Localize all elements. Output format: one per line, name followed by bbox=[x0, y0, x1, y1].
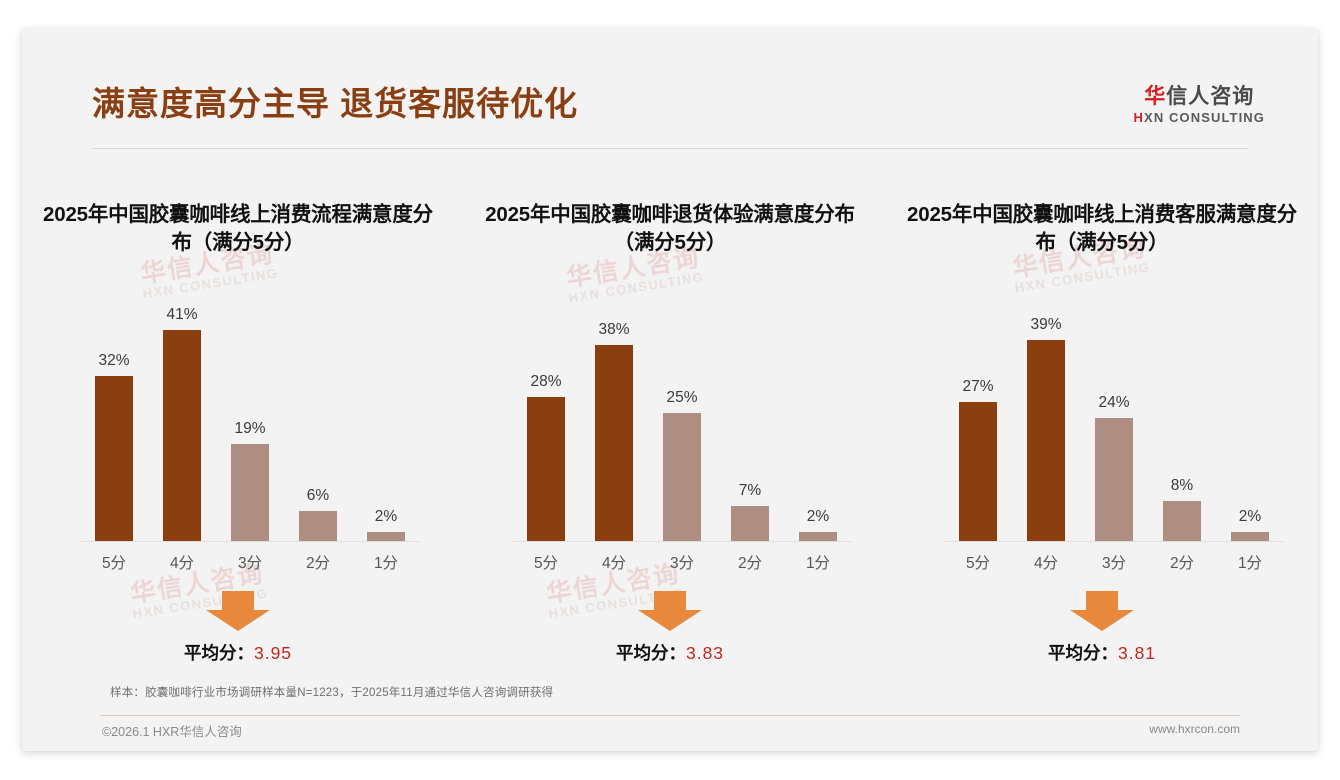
bar bbox=[163, 330, 201, 542]
x-axis-tick-label: 5分 bbox=[944, 551, 1012, 573]
watermark-english: HXN CONSULTING bbox=[142, 266, 279, 301]
bar-item: 25% bbox=[648, 309, 716, 542]
bar-value-label: 39% bbox=[1012, 316, 1080, 334]
slide-footer: ©2026.1 HXR华信人咨询 www.hxrcon.com bbox=[22, 721, 1318, 751]
x-axis-labels-3: 5分4分3分2分1分 bbox=[944, 551, 1284, 573]
plot-area-1: 32%41%19%6%2% bbox=[80, 309, 420, 542]
footer-divider bbox=[100, 715, 1240, 716]
chart-title-2: 2025年中国胶囊咖啡退货体验满意度分布（满分5分） bbox=[472, 201, 868, 258]
average-score-2: 平均分：3.83 bbox=[454, 640, 886, 665]
logo-en-rest: XN CONSULTING bbox=[1144, 110, 1265, 125]
bar-item: 8% bbox=[1148, 309, 1216, 542]
copyright-text: ©2026.1 HXR华信人咨询 bbox=[102, 721, 242, 740]
slide-background: 满意度高分主导 退货客服待优化 华信人咨询 HXN CONSULTING 华信人… bbox=[0, 0, 1340, 780]
bar-value-label: 32% bbox=[80, 352, 148, 370]
x-axis-tick-label: 1分 bbox=[1216, 551, 1284, 573]
x-axis-tick-label: 2分 bbox=[716, 551, 784, 573]
slide-header: 满意度高分主导 退货客服待优化 华信人咨询 HXN CONSULTING bbox=[22, 29, 1318, 125]
bar-value-label: 28% bbox=[512, 373, 580, 391]
chart-title-1: 2025年中国胶囊咖啡线上消费流程满意度分布（满分5分） bbox=[40, 201, 436, 258]
bar-item: 7% bbox=[716, 309, 784, 542]
bar bbox=[1095, 418, 1133, 542]
header-divider bbox=[92, 148, 1248, 149]
x-axis-line bbox=[944, 541, 1284, 542]
x-axis-tick-label: 4分 bbox=[1012, 551, 1080, 573]
x-axis-tick-label: 5分 bbox=[512, 551, 580, 573]
average-label: 平均分： bbox=[616, 643, 686, 663]
website-url: www.hxrcon.com bbox=[1149, 722, 1240, 736]
down-arrow-icon bbox=[206, 591, 270, 631]
logo-chinese-rest: 信人咨询 bbox=[1166, 85, 1254, 108]
plot-area-3: 27%39%24%8%2% bbox=[944, 309, 1284, 542]
bar-item: 19% bbox=[216, 309, 284, 542]
bar bbox=[959, 402, 997, 542]
watermark-english: HXN CONSULTING bbox=[568, 270, 705, 305]
average-value: 3.81 bbox=[1118, 643, 1156, 663]
bar-item: 2% bbox=[784, 309, 852, 542]
average-value: 3.83 bbox=[686, 643, 724, 663]
down-arrow-icon bbox=[1070, 591, 1134, 631]
logo-english-text: HXN CONSULTING bbox=[1134, 111, 1265, 124]
arrow-head bbox=[206, 610, 270, 631]
x-axis-labels-1: 5分4分3分2分1分 bbox=[80, 551, 420, 573]
bar-group-3: 27%39%24%8%2% bbox=[944, 309, 1284, 542]
x-axis-tick-label: 2分 bbox=[284, 551, 352, 573]
bar bbox=[1027, 340, 1065, 542]
x-axis-tick-label: 4分 bbox=[148, 551, 216, 573]
bar-value-label: 2% bbox=[1216, 508, 1284, 526]
arrow-head bbox=[638, 610, 702, 631]
x-axis-tick-label: 2分 bbox=[1148, 551, 1216, 573]
arrow-shaft bbox=[1086, 591, 1118, 611]
bar-value-label: 41% bbox=[148, 306, 216, 324]
average-score-3: 平均分：3.81 bbox=[886, 640, 1318, 665]
bar-item: 6% bbox=[284, 309, 352, 542]
x-axis-tick-label: 3分 bbox=[648, 551, 716, 573]
x-axis-tick-label: 3分 bbox=[216, 551, 284, 573]
bar-value-label: 38% bbox=[580, 321, 648, 339]
chart-panel-1: 华信人咨询 HXN CONSULTING 华信人咨询 HXN CONSULTIN… bbox=[22, 159, 454, 679]
bar-value-label: 19% bbox=[216, 420, 284, 438]
bar-value-label: 25% bbox=[648, 389, 716, 407]
bar-item: 27% bbox=[944, 309, 1012, 542]
bar-value-label: 7% bbox=[716, 482, 784, 500]
bar-value-label: 6% bbox=[284, 487, 352, 505]
source-footnote: 样本：胶囊咖啡行业市场调研样本量N=1223，于2025年11月通过华信人咨询调… bbox=[110, 684, 1230, 700]
company-logo: 华信人咨询 HXN CONSULTING bbox=[1134, 86, 1265, 124]
average-value: 3.95 bbox=[254, 643, 292, 663]
bar-value-label: 27% bbox=[944, 378, 1012, 396]
bar-item: 41% bbox=[148, 309, 216, 542]
x-axis-labels-2: 5分4分3分2分1分 bbox=[512, 551, 852, 573]
bar-item: 38% bbox=[580, 309, 648, 542]
average-score-1: 平均分：3.95 bbox=[22, 640, 454, 665]
bar-value-label: 24% bbox=[1080, 394, 1148, 412]
bar-item: 2% bbox=[1216, 309, 1284, 542]
bar-group-2: 28%38%25%7%2% bbox=[512, 309, 852, 542]
bar-value-label: 8% bbox=[1148, 477, 1216, 495]
bar-item: 2% bbox=[352, 309, 420, 542]
logo-accent-char: 华 bbox=[1144, 85, 1166, 108]
bar-value-label: 2% bbox=[784, 508, 852, 526]
x-axis-line bbox=[80, 541, 420, 542]
arrow-shaft bbox=[222, 591, 254, 611]
average-label: 平均分： bbox=[1048, 643, 1118, 663]
plot-area-2: 28%38%25%7%2% bbox=[512, 309, 852, 542]
slide-card: 满意度高分主导 退货客服待优化 华信人咨询 HXN CONSULTING 华信人… bbox=[22, 29, 1318, 751]
bar bbox=[1163, 501, 1201, 542]
average-label: 平均分： bbox=[184, 643, 254, 663]
bar-item: 39% bbox=[1012, 309, 1080, 542]
x-axis-tick-label: 5分 bbox=[80, 551, 148, 573]
x-axis-tick-label: 4分 bbox=[580, 551, 648, 573]
arrow-head bbox=[1070, 610, 1134, 631]
bar bbox=[299, 511, 337, 542]
bar bbox=[595, 345, 633, 542]
x-axis-tick-label: 3分 bbox=[1080, 551, 1148, 573]
logo-chinese-text: 华信人咨询 bbox=[1134, 86, 1265, 107]
bar bbox=[231, 444, 269, 542]
x-axis-tick-label: 1分 bbox=[784, 551, 852, 573]
bar-item: 32% bbox=[80, 309, 148, 542]
bar bbox=[95, 376, 133, 542]
page-title: 满意度高分主导 退货客服待优化 bbox=[92, 87, 578, 120]
down-arrow-icon bbox=[638, 591, 702, 631]
bar bbox=[731, 506, 769, 542]
bar bbox=[527, 397, 565, 542]
chart-panel-2: 华信人咨询 HXN CONSULTING 华信人咨询 HXN CONSULTIN… bbox=[454, 159, 886, 679]
arrow-shaft bbox=[654, 591, 686, 611]
chart-panels: 华信人咨询 HXN CONSULTING 华信人咨询 HXN CONSULTIN… bbox=[22, 159, 1318, 679]
bar-item: 24% bbox=[1080, 309, 1148, 542]
bar-item: 28% bbox=[512, 309, 580, 542]
bar-value-label: 2% bbox=[352, 508, 420, 526]
logo-en-accent: H bbox=[1134, 110, 1145, 125]
x-axis-tick-label: 1分 bbox=[352, 551, 420, 573]
x-axis-line bbox=[512, 541, 852, 542]
watermark-english: HXN CONSULTING bbox=[1014, 260, 1151, 295]
bar bbox=[663, 413, 701, 542]
bar-group-1: 32%41%19%6%2% bbox=[80, 309, 420, 542]
chart-panel-3: 华信人咨询 HXN CONSULTING 2025年中国胶囊咖啡线上消费客服满意… bbox=[886, 159, 1318, 679]
chart-title-3: 2025年中国胶囊咖啡线上消费客服满意度分布（满分5分） bbox=[904, 201, 1300, 258]
